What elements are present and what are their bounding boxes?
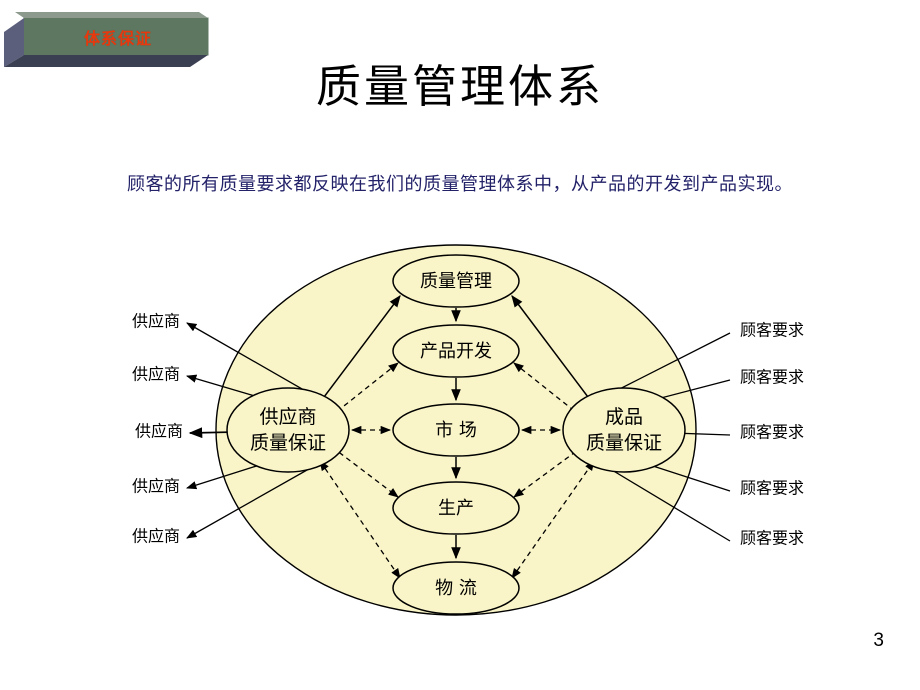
supplier-label-1: 供应商: [132, 312, 180, 331]
node-label-product-development: 产品开发: [420, 341, 492, 362]
page-subtitle: 顾客的所有质量要求都反映在我们的质量管理体系中，从产品的开发到产品实现。: [0, 172, 920, 198]
page-title: 质量管理体系: [0, 58, 920, 116]
node-logistics[interactable]: 物 流: [393, 562, 519, 614]
customer-label-2: 顾客要求: [740, 368, 804, 387]
node-label-finished-quality-line1: 成品: [605, 406, 643, 428]
node-label-logistics: 物 流: [435, 578, 477, 599]
supplier-label-2: 供应商: [132, 365, 180, 384]
supplier-label-4: 供应商: [132, 477, 180, 496]
node-label-finished-quality-line2: 质量保证: [586, 432, 662, 454]
banner-label: 体系保证: [58, 31, 178, 47]
page-number: 3: [873, 630, 884, 652]
node-supplier-quality[interactable]: 供应商 质量保证: [227, 388, 349, 472]
node-label-quality-management: 质量管理: [420, 271, 492, 292]
node-label-production: 生产: [438, 498, 474, 519]
customer-label-1: 顾客要求: [740, 321, 804, 340]
node-label-market: 市 场: [435, 420, 477, 441]
slide: 体系保证 质量管理体系 顾客的所有质量要求都反映在我们的质量管理体系中，从产品的…: [0, 0, 920, 690]
quality-system-diagram: 质量管理 产品开发 市 场 生产 物 流 供应商 质量保证: [0, 225, 920, 645]
supplier-label-5: 供应商: [132, 527, 180, 546]
customer-label-4: 顾客要求: [740, 479, 804, 498]
node-production[interactable]: 生产: [393, 482, 519, 534]
node-finished-quality[interactable]: 成品 质量保证: [563, 388, 685, 472]
node-product-development[interactable]: 产品开发: [393, 325, 519, 377]
node-label-supplier-quality-line2: 质量保证: [250, 432, 326, 454]
node-label-supplier-quality-line1: 供应商: [259, 406, 316, 428]
supplier-label-3: 供应商: [135, 422, 183, 441]
customer-label-3: 顾客要求: [740, 423, 804, 442]
customer-label-5: 顾客要求: [740, 529, 804, 548]
node-market[interactable]: 市 场: [393, 404, 519, 456]
node-quality-management[interactable]: 质量管理: [393, 255, 519, 307]
